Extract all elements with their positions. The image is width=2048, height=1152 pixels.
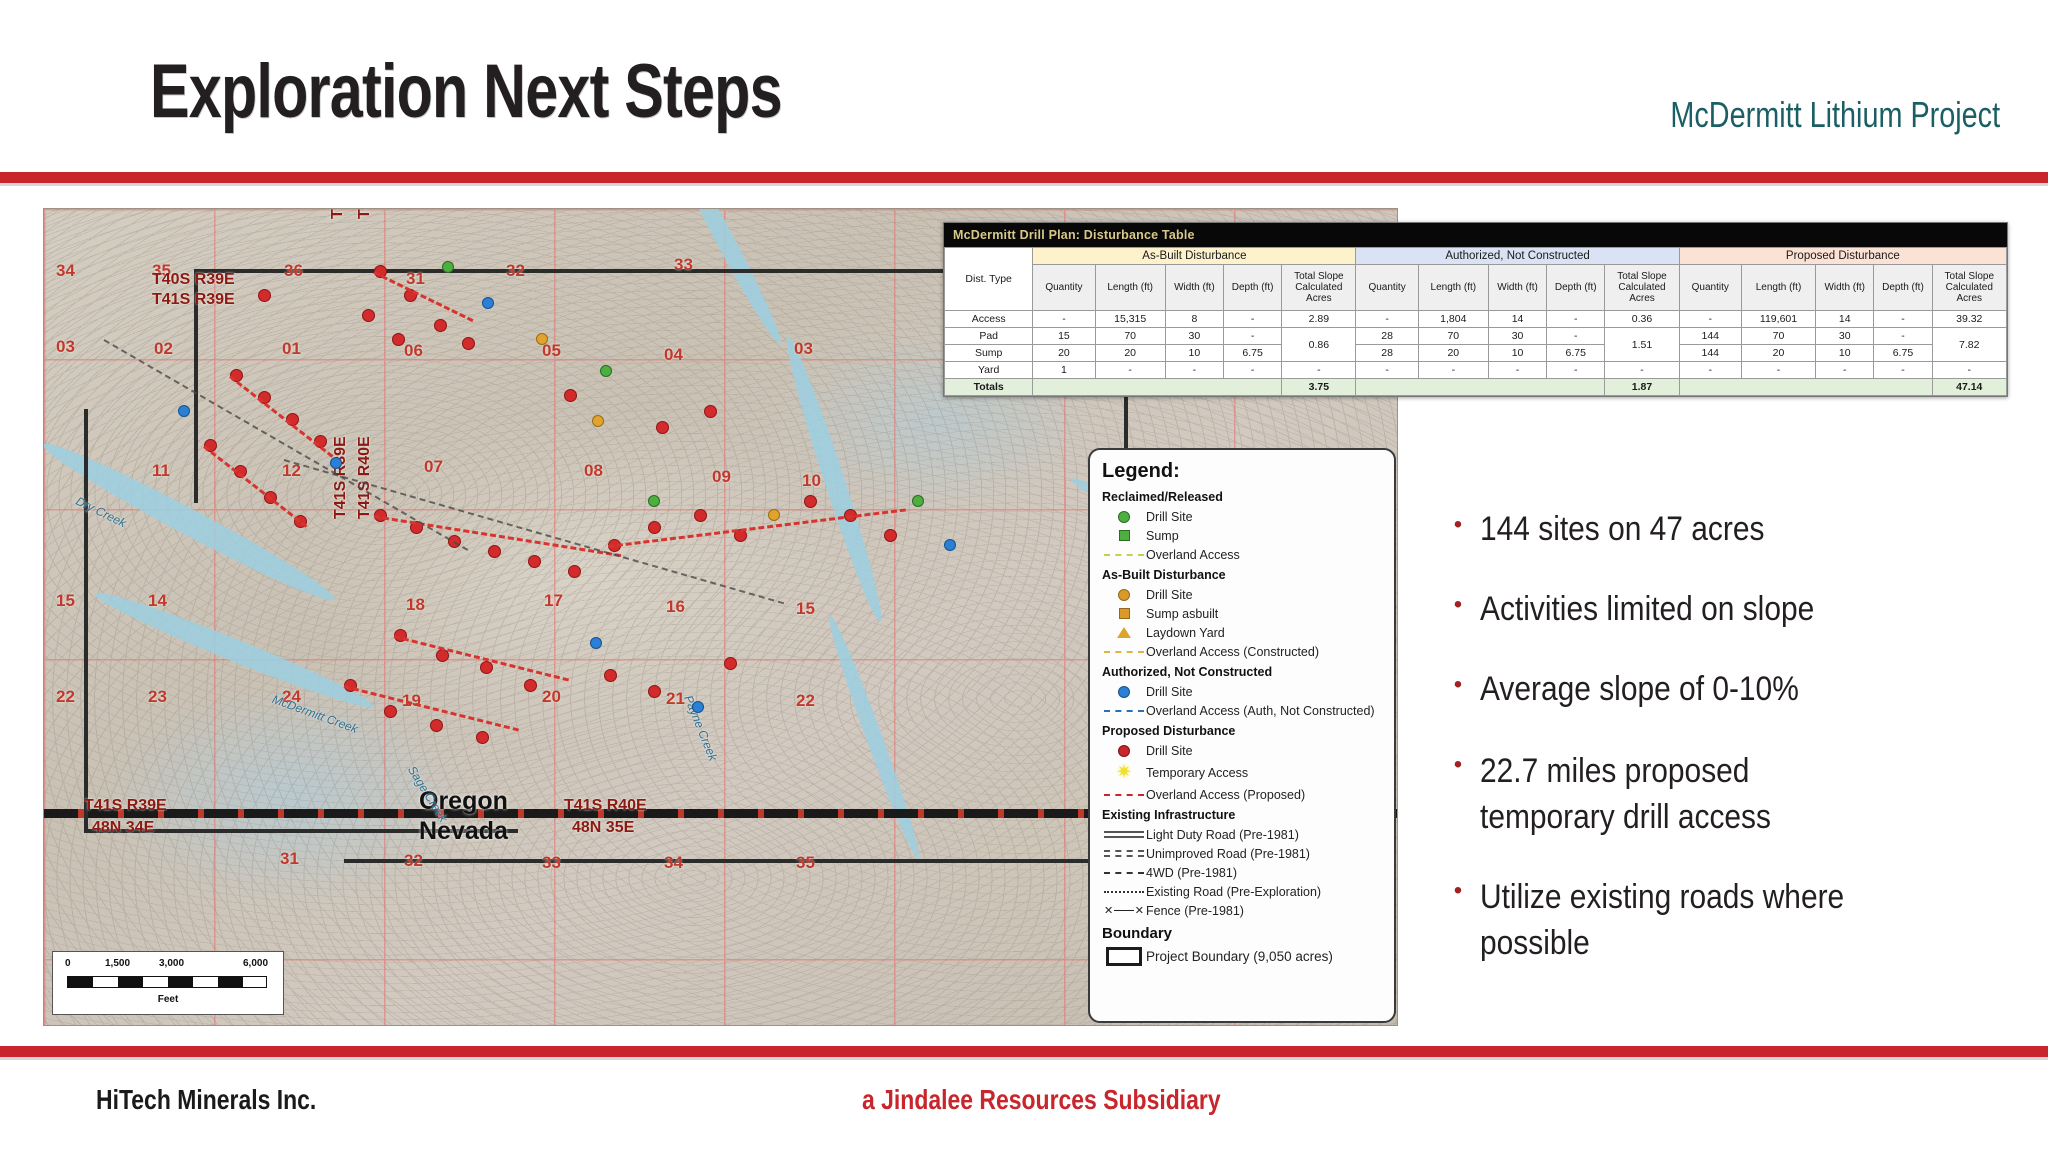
- group-header-authorized: Authorized, Not Constructed: [1356, 248, 1679, 265]
- red-dashed-line-icon: [1102, 794, 1146, 796]
- disturbance-table: McDermitt Drill Plan: Disturbance Table …: [943, 222, 2008, 397]
- drill-site-proposed[interactable]: [884, 529, 897, 542]
- totals-spacer: [1033, 379, 1282, 396]
- group-header-as-built: As-Built Disturbance: [1033, 248, 1356, 265]
- double-dashed-line-icon: [1102, 850, 1146, 857]
- section-number: 02: [154, 339, 173, 359]
- col-header-depth: Depth (ft): [1874, 265, 1932, 311]
- col-header-quantity: Quantity: [1356, 265, 1418, 311]
- section-number: 31: [406, 269, 425, 289]
- legend-item: Project Boundary (9,050 acres): [1102, 945, 1382, 967]
- drill-site-proposed[interactable]: [434, 319, 447, 332]
- table-group-header-row: Dist. Type As-Built Disturbance Authoriz…: [945, 248, 2007, 265]
- cell: 119,601: [1741, 311, 1815, 328]
- legend-item: Drill Site: [1102, 585, 1382, 604]
- green-circle-icon: [1102, 511, 1146, 523]
- cell: 20: [1095, 345, 1165, 362]
- drill-site-proposed[interactable]: [804, 495, 817, 508]
- section-number: 17: [544, 591, 563, 611]
- cell: -: [1165, 362, 1223, 379]
- cell: 70: [1741, 328, 1815, 345]
- header-divider-rule: [0, 172, 2048, 183]
- blue-dashed-line-icon: [1102, 710, 1146, 712]
- legend-item: Laydown Yard: [1102, 623, 1382, 642]
- legend-item: 4WD (Pre-1981): [1102, 863, 1382, 882]
- list-item: • Utilize existing roads where possible: [1436, 874, 1996, 966]
- drill-site-as-built[interactable]: [768, 509, 780, 521]
- drill-site-proposed[interactable]: [476, 731, 489, 744]
- drill-site-authorized[interactable]: [330, 457, 342, 469]
- section-number: 06: [404, 341, 423, 361]
- scale-tick: 3,000: [159, 958, 184, 969]
- drill-site-authorized[interactable]: [590, 637, 602, 649]
- list-item: • Average slope of 0-10%: [1436, 668, 1996, 710]
- footer-subsidiary-note: a Jindalee Resources Subsidiary: [862, 1084, 1221, 1116]
- legend-group-heading: Reclaimed/Released: [1102, 490, 1382, 504]
- totals-as-built: 3.75: [1282, 379, 1356, 396]
- col-header-depth: Depth (ft): [1224, 265, 1282, 311]
- legend-group-heading: Existing Infrastructure: [1102, 808, 1382, 822]
- col-header-acres: Total Slope Calculated Acres: [1282, 265, 1356, 311]
- section-number: 32: [404, 851, 423, 871]
- list-item-label: Activities limited on slope: [1480, 588, 1814, 630]
- bullet-marker: •: [1436, 668, 1480, 702]
- cell: -: [1547, 362, 1605, 379]
- legend-group-heading: Boundary: [1102, 925, 1382, 942]
- cell: 15: [1033, 328, 1095, 345]
- yellow-starburst-icon: ✷: [1102, 763, 1146, 782]
- cell: -: [1932, 362, 2006, 379]
- section-number: 23: [148, 687, 167, 707]
- first-col-header: Dist. Type: [945, 248, 1033, 311]
- drill-site-proposed[interactable]: [392, 333, 405, 346]
- section-number: 18: [406, 595, 425, 615]
- legend-item-label: Drill Site: [1146, 510, 1193, 524]
- blue-circle-icon: [1102, 686, 1146, 698]
- orange-pentagon-icon: [1102, 627, 1146, 638]
- drill-site-proposed[interactable]: [488, 545, 501, 558]
- col-header-length: Length (ft): [1741, 265, 1815, 311]
- col-header-width: Width (ft): [1488, 265, 1546, 311]
- cell: -: [1356, 362, 1418, 379]
- township-label: 48N 34E: [92, 819, 154, 837]
- cell: 2.89: [1282, 311, 1356, 328]
- drill-site-reclaimed[interactable]: [912, 495, 924, 507]
- drill-site-as-built[interactable]: [592, 415, 604, 427]
- fence-line-icon: ✕✕: [1102, 904, 1146, 917]
- list-item-label: Utilize existing roads where possible: [1480, 874, 1894, 966]
- scale-tick: 0: [65, 958, 71, 969]
- cell: 30: [1816, 328, 1874, 345]
- drill-site-proposed[interactable]: [480, 661, 493, 674]
- township-label: T41S R40E: [356, 436, 374, 519]
- drill-site-authorized[interactable]: [178, 405, 190, 417]
- totals-proposed: 47.14: [1932, 379, 2006, 396]
- section-number: 11: [152, 461, 170, 481]
- legend-group-heading: As-Built Disturbance: [1102, 568, 1382, 582]
- drill-site-proposed[interactable]: [704, 405, 717, 418]
- cell-merged-acres: 0.86: [1282, 328, 1356, 362]
- cell: -: [1679, 362, 1741, 379]
- cell: 6.75: [1874, 345, 1932, 362]
- cell: 10: [1816, 345, 1874, 362]
- table-subheader-row: Quantity Length (ft) Width (ft) Depth (f…: [945, 265, 2007, 311]
- section-number: 09: [712, 467, 731, 487]
- legend-item: Overland Access (Auth, Not Constructed): [1102, 701, 1382, 720]
- bullet-marker: •: [1436, 508, 1480, 542]
- header-divider-shadow: [0, 183, 2048, 186]
- legend-item: Unimproved Road (Pre-1981): [1102, 844, 1382, 863]
- cell: 10: [1165, 345, 1223, 362]
- cell: -: [1874, 311, 1932, 328]
- footer-divider-shadow: [0, 1057, 2048, 1060]
- drill-site-proposed[interactable]: [568, 565, 581, 578]
- drill-site-proposed[interactable]: [258, 289, 271, 302]
- list-item-label: 144 sites on 47 acres: [1480, 508, 1764, 550]
- section-number: 10: [802, 471, 821, 491]
- col-header-acres: Total Slope Calculated Acres: [1932, 265, 2006, 311]
- legend-item: Existing Road (Pre-Exploration): [1102, 882, 1382, 901]
- footer-company-name: HiTech Minerals Inc.: [96, 1084, 316, 1116]
- drill-site-proposed[interactable]: [362, 309, 375, 322]
- drill-site-proposed[interactable]: [524, 679, 537, 692]
- cell: -: [1224, 328, 1282, 345]
- drill-site-proposed[interactable]: [604, 669, 617, 682]
- legend-item-label: Light Duty Road (Pre-1981): [1146, 828, 1299, 842]
- table-totals-row: Totals 3.75 1.87 47.14: [945, 379, 2007, 396]
- drill-site-authorized[interactable]: [692, 701, 704, 713]
- section-number: 04: [664, 345, 683, 365]
- drill-site-proposed[interactable]: [430, 719, 443, 732]
- legend-item-label: Project Boundary (9,050 acres): [1146, 949, 1333, 964]
- col-header-width: Width (ft): [1165, 265, 1223, 311]
- cell: 144: [1679, 345, 1741, 362]
- cell: -: [1874, 328, 1932, 345]
- cell: 14: [1488, 311, 1546, 328]
- cell: 30: [1165, 328, 1223, 345]
- list-item: • 22.7 miles proposed temporary drill ac…: [1436, 748, 1996, 840]
- cell: -: [1033, 311, 1095, 328]
- legend-item: Drill Site: [1102, 682, 1382, 701]
- cell: -: [1547, 311, 1605, 328]
- cell: 1,804: [1418, 311, 1488, 328]
- scale-tick: 1,500: [105, 958, 130, 969]
- section-number: 15: [56, 591, 75, 611]
- col-header-quantity: Quantity: [1033, 265, 1095, 311]
- township-label: T40S R39E: [329, 208, 347, 219]
- section-number: 22: [56, 687, 75, 707]
- row-label: Yard: [945, 362, 1033, 379]
- cell: 20: [1418, 345, 1488, 362]
- cell-merged-acres: 1.51: [1605, 328, 1679, 362]
- cell: 28: [1356, 328, 1418, 345]
- section-number: 16: [666, 597, 685, 617]
- cell: -: [1356, 311, 1418, 328]
- township-label: 48N 35E: [572, 819, 634, 837]
- legend-item-label: Fence (Pre-1981): [1146, 904, 1244, 918]
- cell: -: [1605, 362, 1679, 379]
- orange-square-icon: [1102, 608, 1146, 619]
- bullet-marker: •: [1436, 588, 1480, 622]
- drill-site-proposed[interactable]: [648, 521, 661, 534]
- black-rectangle-icon: [1102, 947, 1146, 966]
- col-header-acres: Total Slope Calculated Acres: [1605, 265, 1679, 311]
- cell: 6.75: [1547, 345, 1605, 362]
- legend-item-label: Drill Site: [1146, 588, 1193, 602]
- map-scale-bar: 0 1,500 3,000 6,000 Feet: [52, 951, 284, 1015]
- drill-site-reclaimed[interactable]: [648, 495, 660, 507]
- table-row: Access - 15,315 8 - 2.89 - 1,804 14 - 0.…: [945, 311, 2007, 328]
- legend-item-label: Sump asbuilt: [1146, 607, 1218, 621]
- legend-item-label: Overland Access (Proposed): [1146, 788, 1305, 802]
- cell: 1: [1033, 362, 1095, 379]
- legend-item: Overland Access (Proposed): [1102, 785, 1382, 804]
- cell: -: [1741, 362, 1815, 379]
- section-number: 22: [796, 691, 815, 711]
- legend-item-label: Existing Road (Pre-Exploration): [1146, 885, 1321, 899]
- drill-site-proposed[interactable]: [648, 685, 661, 698]
- legend-item-label: Drill Site: [1146, 685, 1193, 699]
- scale-tick: 6,000: [243, 958, 268, 969]
- cell-merged-acres: 7.82: [1932, 328, 2006, 362]
- drill-site-proposed[interactable]: [384, 705, 397, 718]
- section-number: 20: [542, 687, 561, 707]
- township-label: T40S R39E: [152, 271, 235, 289]
- list-item-label: Average slope of 0-10%: [1480, 668, 1799, 710]
- legend-item: ✷Temporary Access: [1102, 760, 1382, 785]
- cell: 70: [1095, 328, 1165, 345]
- township-label: T41S R40E: [564, 797, 647, 815]
- col-header-depth: Depth (ft): [1547, 265, 1605, 311]
- map-legend: Legend: Reclaimed/Released Drill Site Su…: [1088, 448, 1396, 1023]
- section-number: 01: [282, 339, 301, 359]
- cell: 20: [1033, 345, 1095, 362]
- col-header-quantity: Quantity: [1679, 265, 1741, 311]
- township-label: T40S R40E: [356, 208, 374, 219]
- orange-circle-icon: [1102, 589, 1146, 601]
- cell: 39.32: [1932, 311, 2006, 328]
- legend-item-label: Drill Site: [1146, 744, 1193, 758]
- legend-item-label: Overland Access (Constructed): [1146, 645, 1319, 659]
- cell: 20: [1741, 345, 1815, 362]
- cell: -: [1547, 328, 1605, 345]
- drill-site-proposed[interactable]: [462, 337, 475, 350]
- dotted-line-icon: [1102, 891, 1146, 893]
- project-subtitle: McDermitt Lithium Project: [1670, 94, 2000, 136]
- legend-item: Sump asbuilt: [1102, 604, 1382, 623]
- drill-site-authorized[interactable]: [944, 539, 956, 551]
- section-number: 35: [796, 853, 815, 873]
- legend-item: Overland Access: [1102, 545, 1382, 564]
- cell: -: [1418, 362, 1488, 379]
- cell: -: [1488, 362, 1546, 379]
- cell: -: [1224, 311, 1282, 328]
- section-number: 33: [674, 255, 693, 275]
- disturbance-table-title: McDermitt Drill Plan: Disturbance Table: [944, 223, 2007, 247]
- cell: 10: [1488, 345, 1546, 362]
- section-number: 14: [148, 591, 167, 611]
- double-solid-line-icon: [1102, 831, 1146, 838]
- group-header-proposed: Proposed Disturbance: [1679, 248, 2006, 265]
- cell: 0.36: [1605, 311, 1679, 328]
- cell: 15,315: [1095, 311, 1165, 328]
- legend-item-label: Laydown Yard: [1146, 626, 1225, 640]
- legend-group-heading: Proposed Disturbance: [1102, 724, 1382, 738]
- red-circle-icon: [1102, 745, 1146, 757]
- cell: -: [1874, 362, 1932, 379]
- list-item-label: 22.7 miles proposed temporary drill acce…: [1480, 748, 1850, 840]
- section-number: 36: [284, 261, 303, 281]
- drill-site-reclaimed[interactable]: [442, 261, 454, 273]
- yellow-green-dashed-line-icon: [1102, 554, 1146, 556]
- page-title: Exploration Next Steps: [150, 48, 782, 135]
- legend-item-label: Overland Access: [1146, 548, 1240, 562]
- cell: 14: [1816, 311, 1874, 328]
- row-label: Access: [945, 311, 1033, 328]
- section-number: 03: [794, 339, 813, 359]
- scale-tick-labels: 0 1,500 3,000 6,000: [53, 958, 283, 972]
- section-number: 32: [506, 261, 525, 281]
- totals-authorized: 1.87: [1605, 379, 1679, 396]
- section-number: 08: [584, 461, 603, 481]
- section-number: 15: [796, 599, 815, 619]
- cell: -: [1095, 362, 1165, 379]
- table-row: Yard 1 - - - - - - - - - - - - - -: [945, 362, 2007, 379]
- section-number: 07: [424, 457, 443, 477]
- legend-item: Drill Site: [1102, 507, 1382, 526]
- key-points-list: • 144 sites on 47 acres • Activities lim…: [1436, 508, 1996, 966]
- section-number: 31: [280, 849, 299, 869]
- cell: 6.75: [1224, 345, 1282, 362]
- green-square-icon: [1102, 530, 1146, 541]
- township-label: T41S R39E: [84, 797, 167, 815]
- totals-spacer: [1679, 379, 1932, 396]
- list-item: • 144 sites on 47 acres: [1436, 508, 1996, 550]
- scale-unit-label: Feet: [53, 994, 283, 1005]
- bullet-marker: •: [1436, 874, 1480, 908]
- drill-site-proposed[interactable]: [564, 389, 577, 402]
- legend-item-label: Unimproved Road (Pre-1981): [1146, 847, 1310, 861]
- cell: -: [1224, 362, 1282, 379]
- table-row: Sump 20 20 10 6.75 28 20 10 6.75 144 20 …: [945, 345, 2007, 362]
- legend-item-label: 4WD (Pre-1981): [1146, 866, 1237, 880]
- legend-item: Drill Site: [1102, 741, 1382, 760]
- cell: 30: [1488, 328, 1546, 345]
- drill-site-proposed[interactable]: [656, 421, 669, 434]
- state-label-nevada: Nevada: [419, 817, 508, 846]
- cell: 144: [1679, 328, 1741, 345]
- legend-item: Sump: [1102, 526, 1382, 545]
- section-number: 33: [542, 853, 561, 873]
- drill-site-proposed[interactable]: [528, 555, 541, 568]
- township-label: T41S R39E: [152, 291, 235, 309]
- section-number: 34: [664, 853, 683, 873]
- drill-site-proposed[interactable]: [724, 657, 737, 670]
- legend-item-label: Sump: [1146, 529, 1179, 543]
- legend-item-label: Overland Access (Auth, Not Constructed): [1146, 704, 1375, 718]
- cell: -: [1679, 311, 1741, 328]
- legend-item: Overland Access (Constructed): [1102, 642, 1382, 661]
- section-number: 34: [56, 261, 75, 281]
- drill-site-authorized[interactable]: [482, 297, 494, 309]
- footer-divider-rule: [0, 1046, 2048, 1057]
- scale-bar-graphic: [67, 976, 267, 988]
- cell: -: [1282, 362, 1356, 379]
- drill-site-reclaimed[interactable]: [600, 365, 612, 377]
- cell: -: [1816, 362, 1874, 379]
- col-header-length: Length (ft): [1095, 265, 1165, 311]
- legend-group-heading: Authorized, Not Constructed: [1102, 665, 1382, 679]
- list-item: • Activities limited on slope: [1436, 588, 1996, 630]
- cell: 28: [1356, 345, 1418, 362]
- long-dashed-line-icon: [1102, 872, 1146, 874]
- drill-site-proposed[interactable]: [694, 509, 707, 522]
- orange-dashed-line-icon: [1102, 651, 1146, 653]
- legend-item: ✕✕Fence (Pre-1981): [1102, 901, 1382, 920]
- legend-title: Legend:: [1102, 460, 1382, 483]
- totals-spacer: [1356, 379, 1605, 396]
- table-row: Pad 15 70 30 - 0.86 28 70 30 - 1.51 144 …: [945, 328, 2007, 345]
- legend-item: Light Duty Road (Pre-1981): [1102, 825, 1382, 844]
- row-label: Sump: [945, 345, 1033, 362]
- totals-label: Totals: [945, 379, 1033, 396]
- col-header-width: Width (ft): [1816, 265, 1874, 311]
- legend-item-label: Temporary Access: [1146, 766, 1248, 780]
- bullet-marker: •: [1436, 748, 1480, 782]
- section-number: 03: [56, 337, 75, 357]
- cell: 8: [1165, 311, 1223, 328]
- drill-site-as-built[interactable]: [536, 333, 548, 345]
- row-label: Pad: [945, 328, 1033, 345]
- col-header-length: Length (ft): [1418, 265, 1488, 311]
- cell: 70: [1418, 328, 1488, 345]
